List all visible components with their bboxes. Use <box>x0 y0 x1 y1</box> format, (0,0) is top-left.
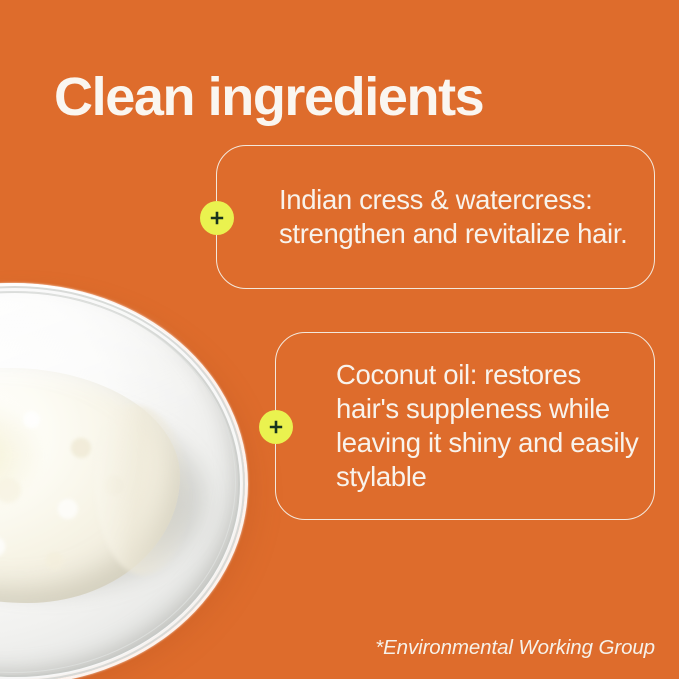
page-title: Clean ingredients <box>54 67 483 127</box>
ingredient-card-coconut-oil: Coconut oil: restores hair's suppleness … <box>275 332 655 520</box>
footnote: *Environmental Working Group <box>375 636 655 660</box>
coconut-oil-shadow <box>0 398 210 598</box>
dish-gloss-highlight <box>0 292 200 492</box>
glass-dish <box>0 283 242 679</box>
coconut-oil-mound <box>0 368 180 603</box>
ingredient-card-text: Indian cress & watercress: strengthen an… <box>217 183 654 251</box>
dish-drop-shadow <box>0 300 258 679</box>
coconut-oil-texture <box>0 368 180 603</box>
coconut-oil-warm-tint <box>0 400 40 510</box>
glass-dish-rim <box>0 283 248 679</box>
glass-dish-inner-rim <box>0 291 236 673</box>
clean-ingredients-poster: Clean ingredients Indian cress & watercr… <box>0 0 679 679</box>
plus-icon <box>259 410 293 444</box>
plus-icon <box>200 201 234 235</box>
coconut-oil-ragged-edge <box>95 405 190 575</box>
ingredient-card-indian-cress: Indian cress & watercress: strengthen an… <box>216 145 655 289</box>
ingredient-card-text: Coconut oil: restores hair's suppleness … <box>276 358 654 494</box>
